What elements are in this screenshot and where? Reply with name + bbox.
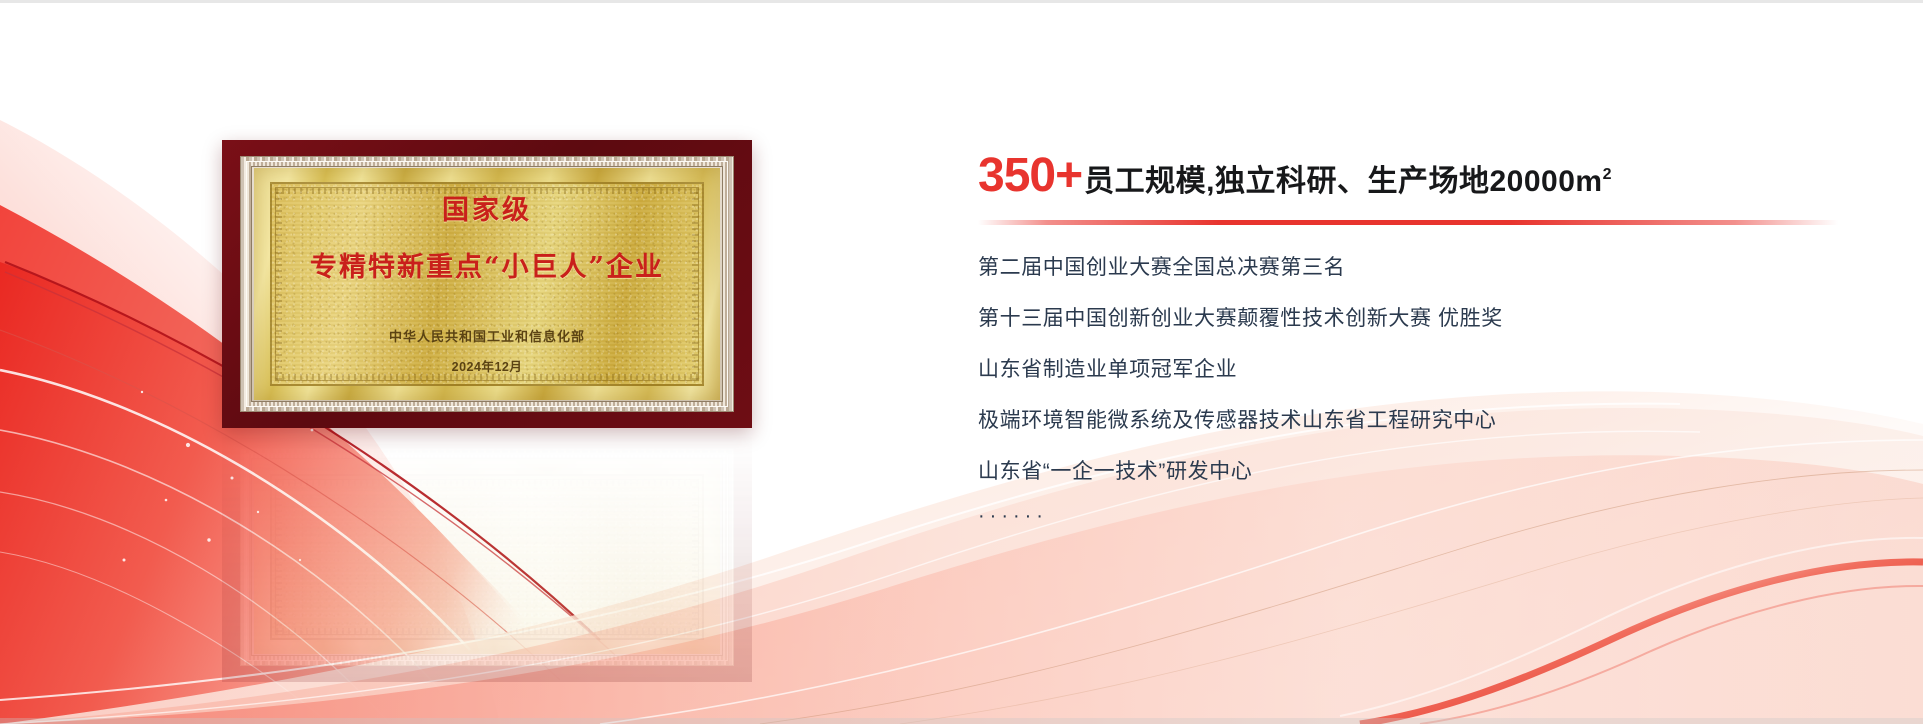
headline-text: 员工规模,独立科研、生产场地20000m	[1084, 167, 1602, 197]
list-item: 极端环境智能微系统及传感器技术山东省工程研究中心	[978, 410, 1858, 431]
plaque-frame: 国家级 专精特新重点“小巨人”企业 中华人民共和国工业和信息化部 2024年12…	[222, 140, 752, 428]
plaque-issuer: 中华人民共和国工业和信息化部	[389, 326, 585, 345]
list-item: 山东省制造业单项冠军企业	[978, 359, 1858, 380]
headline-superscript: 2	[1603, 166, 1612, 184]
banner-stage: 国家级 专精特新重点“小巨人”企业 中华人民共和国工业和信息化部 2024年12…	[0, 0, 1923, 724]
award-plaque: 国家级 专精特新重点“小巨人”企业 中华人民共和国工业和信息化部 2024年12…	[222, 140, 752, 428]
list-item: 第十三届中国创新创业大赛颠覆性技术创新大赛 优胜奖	[978, 308, 1858, 329]
headline-number: 350+	[978, 152, 1082, 200]
plaque-text-block: 国家级 专精特新重点“小巨人”企业 中华人民共和国工业和信息化部 2024年12…	[222, 140, 752, 428]
content-panel: 350+ 员工规模,独立科研、生产场地20000m 2 第二届中国创业大赛全国总…	[978, 152, 1858, 526]
achievements-list: 第二届中国创业大赛全国总决赛第三名 第十三届中国创新创业大赛颠覆性技术创新大赛 …	[978, 257, 1858, 526]
plaque-date: 2024年12月	[452, 356, 523, 375]
plaque-title-line1: 国家级	[442, 188, 532, 227]
list-ellipsis: ······	[978, 506, 1858, 526]
list-item: 山东省“一企一技术”研发中心	[978, 461, 1858, 482]
headline: 350+ 员工规模,独立科研、生产场地20000m 2	[978, 152, 1858, 200]
list-item: 第二届中国创业大赛全国总决赛第三名	[978, 257, 1858, 278]
headline-underline-rule	[978, 220, 1838, 225]
plaque-title-line2: 专精特新重点“小巨人”企业	[310, 245, 664, 284]
